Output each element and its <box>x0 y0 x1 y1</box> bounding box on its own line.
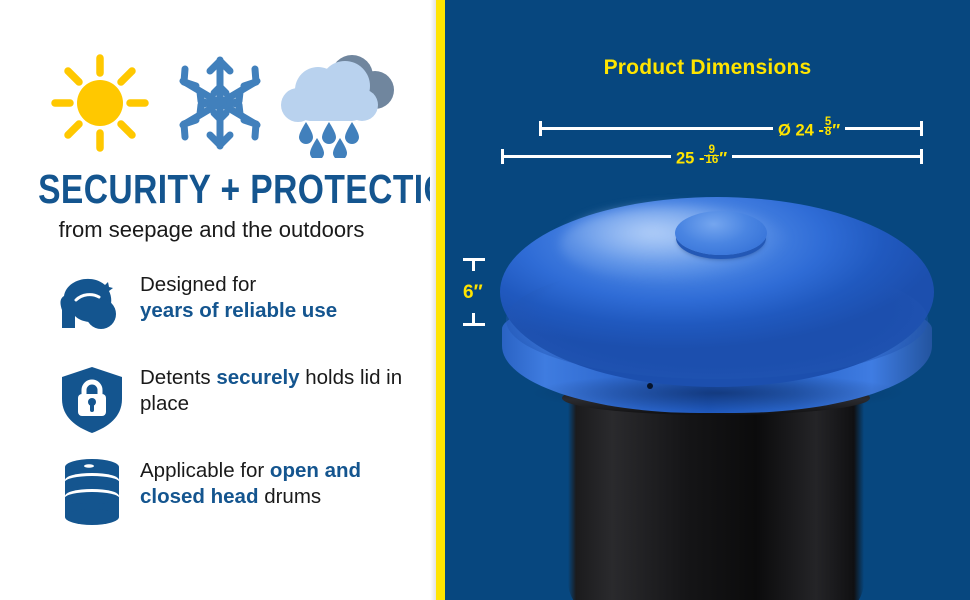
height-dim-stem-top <box>472 258 475 271</box>
list-item-text: Detents securely holds lid in place <box>140 365 410 417</box>
diameter-dimension-line <box>539 127 923 130</box>
lid-vent-hole <box>647 383 653 389</box>
list-item: Applicable for open and closed head drum… <box>0 454 423 547</box>
section-title: Product Dimensions <box>445 56 970 80</box>
product-image <box>490 175 950 600</box>
page-subtitle: from seepage and the outdoors <box>0 216 423 244</box>
page-title: SECURITY + PROTECTION <box>38 167 385 211</box>
diameter-dim-cap-left <box>539 121 542 136</box>
list-item-text: Designed for years of reliable use <box>140 272 410 324</box>
panel-divider <box>436 0 445 600</box>
feature-3-post: drums <box>259 485 322 508</box>
diameter-whole: 24 <box>795 122 813 140</box>
list-item-text: Applicable for open and closed head drum… <box>140 458 410 510</box>
width-whole: 25 <box>676 150 694 168</box>
feature-list: Designed for years of reliable use Deten… <box>0 268 423 547</box>
left-panel: SECURITY + PROTECTION from seepage and t… <box>0 0 423 600</box>
feature-1-line1: Designed for <box>140 273 256 296</box>
diameter-unit: ″ <box>832 122 840 140</box>
diameter-dim-cap-right <box>920 121 923 136</box>
weather-icon-row <box>0 48 423 160</box>
width-fraction: 916 <box>704 146 719 165</box>
diameter-symbol: Ø <box>778 122 791 140</box>
lid-center-knob <box>675 211 767 255</box>
rain-cloud-icon <box>280 48 395 163</box>
width-dimension-label: 25 -916″ <box>671 146 732 168</box>
list-item: Designed for years of reliable use <box>0 268 423 361</box>
diameter-dimension-label: Ø 24 -58″ <box>773 118 845 140</box>
height-dim-cap-bottom <box>463 323 485 326</box>
right-panel: Product Dimensions Ø 24 -58″ 25 <box>445 0 970 600</box>
infographic-screen: SECURITY + PROTECTION from seepage and t… <box>0 0 970 600</box>
flexed-bicep-icon <box>56 270 128 342</box>
shield-lock-icon <box>56 363 128 435</box>
list-item: Detents securely holds lid in place <box>0 361 423 454</box>
width-dim-cap-right <box>920 149 923 164</box>
width-frac-denominator: 16 <box>704 156 719 165</box>
feature-1-line2: years of reliable use <box>140 299 337 322</box>
width-unit: ″ <box>719 150 727 168</box>
height-dimension-label: 6″ <box>463 282 483 304</box>
width-dim-cap-left <box>501 149 504 164</box>
drum-icon <box>56 456 128 528</box>
feature-2-bold: securely <box>216 366 299 389</box>
feature-2-pre: Detents <box>140 366 216 389</box>
sun-icon <box>48 48 153 163</box>
feature-3-pre: Applicable for <box>140 459 270 482</box>
snowflake-icon <box>178 48 262 163</box>
